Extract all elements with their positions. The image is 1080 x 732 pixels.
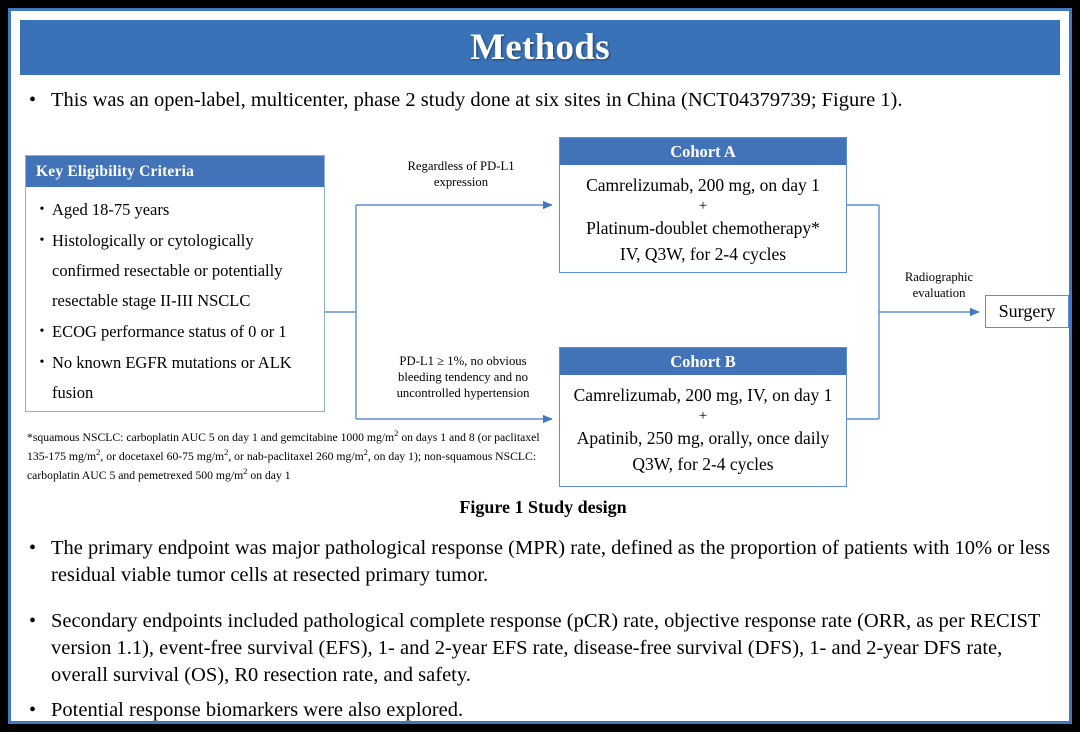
chemotherapy-footnote: *squamous NSCLC: carboplatin AUC 5 on da… — [27, 426, 555, 483]
annotation-pdl1-criteria: PD-L1 ≥ 1%, no obvious bleeding tendency… — [369, 353, 557, 401]
annotation-line: expression — [381, 174, 541, 190]
bullet-intro: • This was an open-label, multicenter, p… — [29, 87, 1059, 114]
study-design-figure: Key Eligibility Criteria • Aged 18-75 ye… — [11, 129, 1072, 519]
annotation-regardless-pdl1: Regardless of PD-L1 expression — [381, 158, 541, 190]
bullet-primary-endpoint-text: The primary endpoint was major pathologi… — [51, 535, 1059, 589]
bullet-marker-icon: • — [29, 535, 51, 562]
bullet-marker-icon: • — [29, 608, 51, 635]
list-item: • ECOG performance status of 0 or 1 — [32, 317, 318, 347]
footnote-part: *squamous NSCLC: carboplatin AUC 5 on da… — [27, 431, 394, 444]
footnote-part: , or docetaxel 60-75 mg/m — [100, 450, 224, 463]
cohort-a-plus: + — [560, 198, 846, 215]
figure-caption: Figure 1 Study design — [11, 497, 1072, 518]
cohort-b-header: Cohort B — [560, 348, 846, 375]
annotation-line: Radiographic — [891, 269, 987, 285]
bullet-marker-icon: • — [29, 87, 51, 114]
criterion-text: Aged 18-75 years — [52, 195, 318, 225]
bullet-biomarkers: • Potential response biomarkers were als… — [29, 697, 1059, 724]
page-title: Methods — [470, 26, 610, 69]
bullet-secondary-endpoints: • Secondary endpoints included pathologi… — [29, 608, 1059, 689]
cohort-b-box: Cohort B Camrelizumab, 200 mg, IV, on da… — [559, 347, 847, 487]
bullet-marker-icon: • — [32, 348, 52, 378]
cohort-b-line2: Apatinib, 250 mg, orally, once daily — [560, 425, 846, 451]
list-item: • No known EGFR mutations or ALK fusion — [32, 348, 318, 408]
cohort-b-line1: Camrelizumab, 200 mg, IV, on day 1 — [560, 382, 846, 408]
criterion-text: ECOG performance status of 0 or 1 — [52, 317, 318, 347]
footnote-part: , or nab-paclitaxel 260 mg/m — [228, 450, 363, 463]
slide-canvas: Methods • This was an open-label, multic… — [8, 8, 1072, 724]
cohort-b-plus: + — [560, 408, 846, 425]
annotation-line: evaluation — [891, 285, 987, 301]
list-item: • Aged 18-75 years — [32, 195, 318, 225]
cohort-a-box: Cohort A Camrelizumab, 200 mg, on day 1 … — [559, 137, 847, 273]
bullet-marker-icon: • — [32, 226, 52, 256]
criterion-text: No known EGFR mutations or ALK fusion — [52, 348, 318, 408]
cohort-a-header: Cohort A — [560, 138, 846, 165]
annotation-line: bleeding tendency and no — [369, 369, 557, 385]
eligibility-criteria-box: Key Eligibility Criteria • Aged 18-75 ye… — [25, 155, 325, 412]
cohort-a-line1: Camrelizumab, 200 mg, on day 1 — [560, 172, 846, 198]
eligibility-criteria-list: • Aged 18-75 years • Histologically or c… — [26, 187, 324, 413]
annotation-line: Regardless of PD-L1 — [381, 158, 541, 174]
bullet-intro-text: This was an open-label, multicenter, pha… — [51, 87, 1059, 114]
cohort-a-line2: Platinum-doublet chemotherapy* — [560, 215, 846, 241]
annotation-radiographic-evaluation: Radiographic evaluation — [891, 269, 987, 301]
cohort-a-line3: IV, Q3W, for 2-4 cycles — [560, 241, 846, 267]
cohort-a-body: Camrelizumab, 200 mg, on day 1 + Platinu… — [560, 165, 846, 267]
surgery-box: Surgery — [985, 295, 1069, 328]
bullet-primary-endpoint: • The primary endpoint was major patholo… — [29, 535, 1059, 589]
list-item: • Histologically or cytologically confir… — [32, 226, 318, 316]
cohort-b-body: Camrelizumab, 200 mg, IV, on day 1 + Apa… — [560, 375, 846, 477]
annotation-line: PD-L1 ≥ 1%, no obvious — [369, 353, 557, 369]
bullet-secondary-endpoints-text: Secondary endpoints included pathologica… — [51, 608, 1059, 689]
surgery-label: Surgery — [999, 301, 1056, 322]
annotation-line: uncontrolled hypertension — [369, 385, 557, 401]
cohort-b-line3: Q3W, for 2-4 cycles — [560, 451, 846, 477]
bullet-marker-icon: • — [32, 317, 52, 347]
bullet-biomarkers-text: Potential response biomarkers were also … — [51, 697, 1059, 724]
footnote-part: on day 1 — [247, 469, 290, 482]
criterion-text: Histologically or cytologically confirme… — [52, 226, 318, 316]
bullet-marker-icon: • — [32, 195, 52, 225]
eligibility-header: Key Eligibility Criteria — [26, 156, 324, 187]
bullet-marker-icon: • — [29, 697, 51, 724]
slide-title-bar: Methods — [20, 20, 1060, 75]
